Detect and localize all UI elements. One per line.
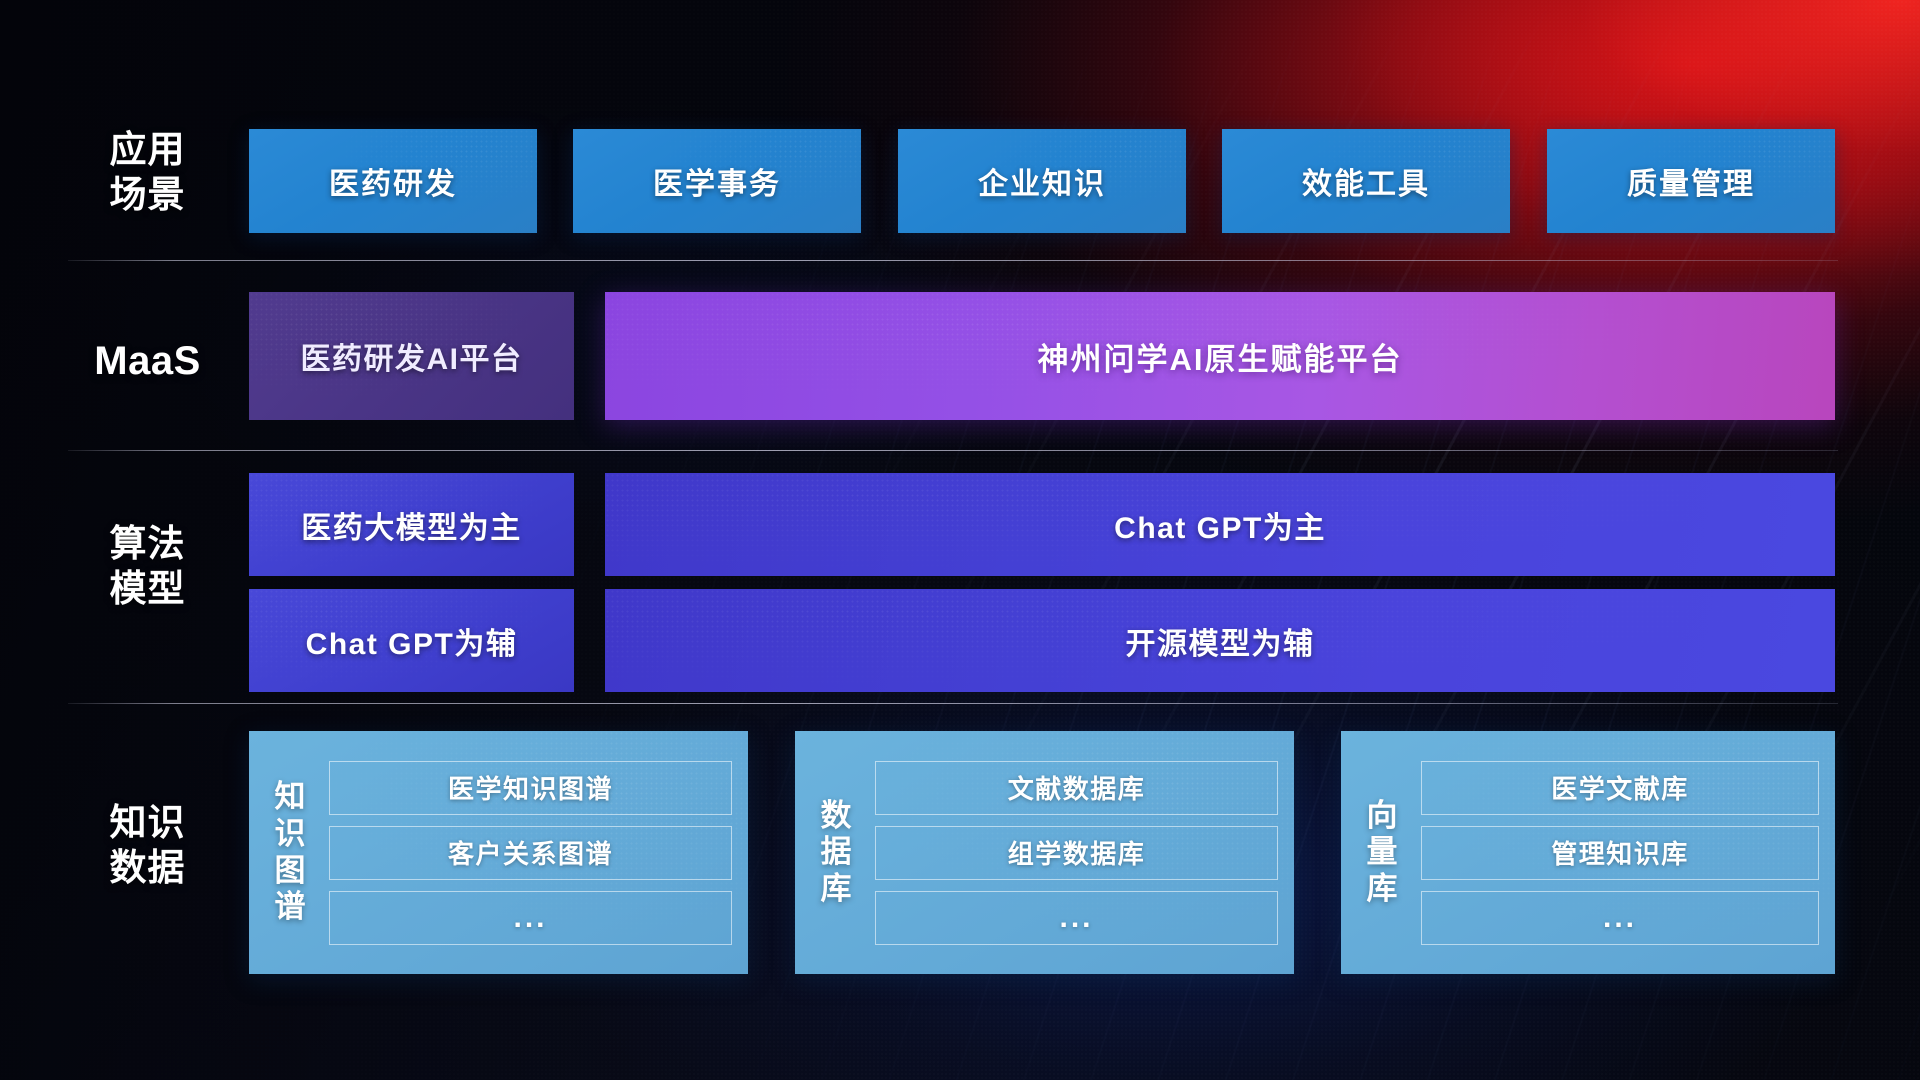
knowledge-item-vector-2[interactable]: 管理知识库 <box>1421 826 1819 880</box>
row-label-knowledge-data: 知识 数据 <box>60 800 235 890</box>
app-scenario-label-4: 效能工具 <box>1302 159 1430 203</box>
knowledge-item-database-2[interactable]: 组学数据库 <box>875 826 1278 880</box>
maas-platform-box-shenzhou[interactable]: 神州问学AI原生赋能平台 <box>605 292 1835 420</box>
knowledge-item-vector-3[interactable]: ... <box>1421 891 1819 945</box>
divider-2 <box>68 450 1838 451</box>
app-scenario-label-1: 医药研发 <box>329 159 457 203</box>
row-label-algo-line-1: 算法 <box>60 521 235 566</box>
knowledge-card-graph[interactable]: 知识图谱 医学知识图谱 客户关系图谱 ... <box>249 731 748 974</box>
knowledge-item-graph-2[interactable]: 客户关系图谱 <box>329 826 732 880</box>
algo-box-chatgpt-secondary[interactable]: Chat GPT为辅 <box>249 589 574 692</box>
slide-canvas: 应用 场景 医药研发 医学事务 企业知识 效能工具 质量管理 MaaS 医药研发… <box>0 0 1920 1080</box>
knowledge-card-database-items: 文献数据库 组学数据库 ... <box>875 761 1278 945</box>
app-scenario-box-1[interactable]: 医药研发 <box>249 129 537 233</box>
knowledge-card-vector-items: 医学文献库 管理知识库 ... <box>1421 761 1819 945</box>
row-label-knowledge-line-1: 知识 <box>60 800 235 845</box>
algo-box-pharma-primary[interactable]: 医药大模型为主 <box>249 473 574 576</box>
algo-box-chatgpt-primary[interactable]: Chat GPT为主 <box>605 473 1835 576</box>
app-scenario-box-3[interactable]: 企业知识 <box>898 129 1186 233</box>
app-scenario-box-2[interactable]: 医学事务 <box>573 129 861 233</box>
knowledge-card-database[interactable]: 数据库 文献数据库 组学数据库 ... <box>795 731 1294 974</box>
knowledge-card-database-vertical-label: 数据库 <box>809 798 863 908</box>
knowledge-item-graph-3[interactable]: ... <box>329 891 732 945</box>
maas-platform-box-pharma[interactable]: 医药研发AI平台 <box>249 292 574 420</box>
row-label-algorithm-models: 算法 模型 <box>60 521 235 611</box>
app-scenario-label-3: 企业知识 <box>978 159 1106 203</box>
maas-platform-label-pharma: 医药研发AI平台 <box>301 334 523 378</box>
algo-label-pharma-primary: 医药大模型为主 <box>301 503 522 547</box>
maas-platform-label-shenzhou: 神州问学AI原生赋能平台 <box>1038 334 1403 379</box>
knowledge-card-graph-vertical-label: 知识图谱 <box>263 779 317 925</box>
algo-box-opensource-secondary[interactable]: 开源模型为辅 <box>605 589 1835 692</box>
knowledge-card-vector[interactable]: 向量库 医学文献库 管理知识库 ... <box>1341 731 1835 974</box>
algo-label-opensource-secondary: 开源模型为辅 <box>1126 619 1315 663</box>
row-label-maas: MaaS <box>60 337 235 386</box>
algo-label-chatgpt-secondary: Chat GPT为辅 <box>306 619 518 663</box>
row-label-line-2: 场景 <box>60 172 235 217</box>
architecture-diagram: 应用 场景 医药研发 医学事务 企业知识 效能工具 质量管理 MaaS 医药研发… <box>0 0 1920 1080</box>
knowledge-item-graph-1[interactable]: 医学知识图谱 <box>329 761 732 815</box>
knowledge-card-graph-items: 医学知识图谱 客户关系图谱 ... <box>329 761 732 945</box>
row-label-application-scenarios: 应用 场景 <box>60 127 235 217</box>
row-label-line-1: 应用 <box>60 127 235 172</box>
row-label-algo-line-2: 模型 <box>60 566 235 611</box>
knowledge-item-database-3[interactable]: ... <box>875 891 1278 945</box>
app-scenario-label-2: 医学事务 <box>653 159 781 203</box>
row-label-knowledge-line-2: 数据 <box>60 845 235 890</box>
divider-1 <box>68 260 1838 261</box>
divider-3 <box>68 703 1838 704</box>
knowledge-card-vector-vertical-label: 向量库 <box>1355 798 1409 908</box>
algo-label-chatgpt-primary: Chat GPT为主 <box>1114 503 1326 547</box>
knowledge-item-database-1[interactable]: 文献数据库 <box>875 761 1278 815</box>
app-scenario-box-5[interactable]: 质量管理 <box>1547 129 1835 233</box>
knowledge-item-vector-1[interactable]: 医学文献库 <box>1421 761 1819 815</box>
row-label-maas-text: MaaS <box>60 337 235 386</box>
app-scenario-box-4[interactable]: 效能工具 <box>1222 129 1510 233</box>
app-scenario-label-5: 质量管理 <box>1627 159 1755 203</box>
